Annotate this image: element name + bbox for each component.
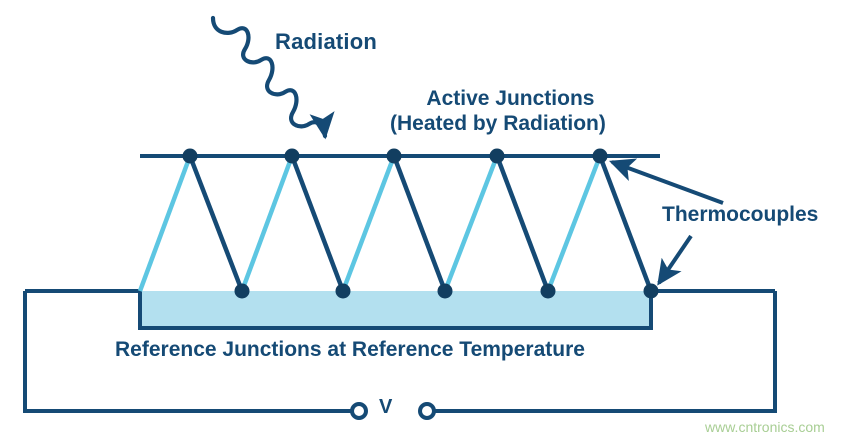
active-junction-node <box>285 149 300 164</box>
reference-junction-node <box>235 284 250 299</box>
terminal-right <box>420 404 434 418</box>
reference-junctions-label: Reference Junctions at Reference Tempera… <box>115 338 585 362</box>
radiation-label: Radiation <box>275 29 377 55</box>
terminal-left <box>352 404 366 418</box>
reference-junction-node <box>336 284 351 299</box>
reference-junction-node <box>438 284 453 299</box>
voltage-label: V <box>379 396 392 419</box>
reference-temperature-block <box>140 291 651 328</box>
thermopile-diagram: Radiation Active Junctions (Heated by Ra… <box>0 0 857 445</box>
thermocouple-legs-dark <box>190 156 651 291</box>
active-junction-node <box>490 149 505 164</box>
active-junctions-subtitle: (Heated by Radiation) <box>390 111 606 136</box>
active-junction-node <box>183 149 198 164</box>
thermocouples-label: Thermocouples <box>662 203 818 227</box>
thermocouples-arrow-lower <box>659 236 691 283</box>
reference-junction-node <box>541 284 556 299</box>
active-junctions-label: Active Junctions (Heated by Radiation) <box>415 86 606 136</box>
active-junction-node <box>593 149 608 164</box>
active-junction-node <box>387 149 402 164</box>
active-junctions-title: Active Junctions <box>426 87 594 110</box>
reference-junction-node <box>644 284 659 299</box>
thermocouple-legs-light <box>140 156 600 291</box>
thermocouples-arrow-upper <box>612 162 723 203</box>
site-watermark: www.cntronics.com <box>705 419 825 435</box>
voltage-terminals <box>352 404 434 418</box>
